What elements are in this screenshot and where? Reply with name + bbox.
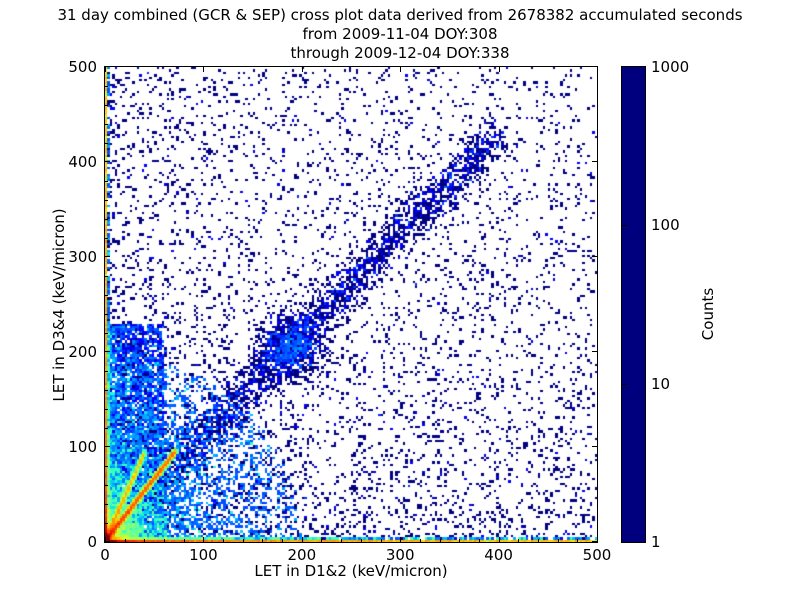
y-tick-mark [592, 446, 597, 447]
y-minor-tick [105, 466, 108, 467]
colorbar [621, 66, 646, 543]
title-line-1: 31 day combined (GCR & SEP) cross plot d… [0, 6, 800, 25]
y-minor-tick [105, 181, 108, 182]
y-tick-mark [592, 541, 597, 542]
x-minor-tick [440, 539, 441, 542]
x-tick-mark [597, 67, 598, 72]
y-minor-tick [105, 390, 108, 391]
chart-title: 31 day combined (GCR & SEP) cross plot d… [0, 6, 800, 63]
y-minor-tick [105, 314, 108, 315]
y-minor-tick [105, 295, 108, 296]
x-minor-tick [223, 539, 224, 542]
x-minor-tick [184, 539, 185, 542]
colorbar-tick-label: 10 [651, 375, 670, 393]
y-minor-tick [105, 238, 108, 239]
y-tick-mark [105, 351, 110, 352]
y-minor-tick [105, 523, 108, 524]
x-minor-tick [479, 539, 480, 542]
y-axis-title: LET in D3&4 (keV/micron) [50, 140, 68, 470]
x-minor-tick [125, 539, 126, 542]
y-minor-tick [105, 219, 108, 220]
x-minor-tick [341, 539, 342, 542]
colorbar-title: Counts [699, 254, 717, 374]
x-minor-tick [262, 539, 263, 542]
x-minor-tick [558, 539, 559, 542]
colorbar-tick-label: 100 [651, 216, 680, 234]
y-tick-mark [105, 541, 110, 542]
title-line-2: from 2009-11-04 DOY:308 [0, 25, 800, 44]
x-tick-mark [105, 67, 106, 72]
x-minor-tick [321, 539, 322, 542]
x-minor-tick [577, 539, 578, 542]
y-minor-tick [105, 105, 108, 106]
y-tick-mark [592, 351, 597, 352]
plot-area [104, 66, 598, 543]
x-tick-mark [302, 67, 303, 72]
x-tick-mark [203, 67, 204, 72]
x-tick-mark [203, 537, 204, 542]
x-minor-tick [361, 539, 362, 542]
density-heatmap-canvas [105, 67, 597, 542]
y-tick-mark [592, 161, 597, 162]
x-tick-mark [400, 537, 401, 542]
y-minor-tick [105, 409, 108, 410]
x-minor-tick [420, 539, 421, 542]
y-minor-tick [105, 485, 108, 486]
x-tick-mark [302, 537, 303, 542]
x-minor-tick [243, 539, 244, 542]
y-minor-tick [105, 200, 108, 201]
y-tick-mark [592, 256, 597, 257]
y-minor-tick [105, 333, 108, 334]
y-minor-tick [105, 371, 108, 372]
y-minor-tick [105, 143, 108, 144]
y-tick-label: 500 [52, 58, 97, 76]
x-minor-tick [459, 539, 460, 542]
x-tick-mark [597, 537, 598, 542]
colorbar-tick-label: 1 [651, 533, 661, 551]
x-tick-mark [400, 67, 401, 72]
y-tick-mark [105, 66, 110, 67]
y-minor-tick [105, 428, 108, 429]
y-minor-tick [105, 504, 108, 505]
y-minor-tick [105, 124, 108, 125]
y-minor-tick [105, 276, 108, 277]
x-minor-tick [282, 539, 283, 542]
y-tick-mark [592, 66, 597, 67]
colorbar-gradient [622, 67, 645, 542]
x-minor-tick [538, 539, 539, 542]
colorbar-tick-mark [622, 384, 627, 385]
y-tick-mark [105, 256, 110, 257]
y-minor-tick [105, 86, 108, 87]
colorbar-tick-mark [622, 225, 627, 226]
x-minor-tick [144, 539, 145, 542]
x-minor-tick [381, 539, 382, 542]
x-tick-mark [499, 537, 500, 542]
colorbar-tick-label: 1000 [651, 58, 689, 76]
x-axis-title: LET in D1&2 (keV/micron) [104, 562, 598, 580]
y-tick-label: 0 [52, 533, 97, 551]
x-tick-mark [499, 67, 500, 72]
y-tick-mark [105, 446, 110, 447]
x-minor-tick [164, 539, 165, 542]
x-minor-tick [518, 539, 519, 542]
y-tick-mark [105, 161, 110, 162]
